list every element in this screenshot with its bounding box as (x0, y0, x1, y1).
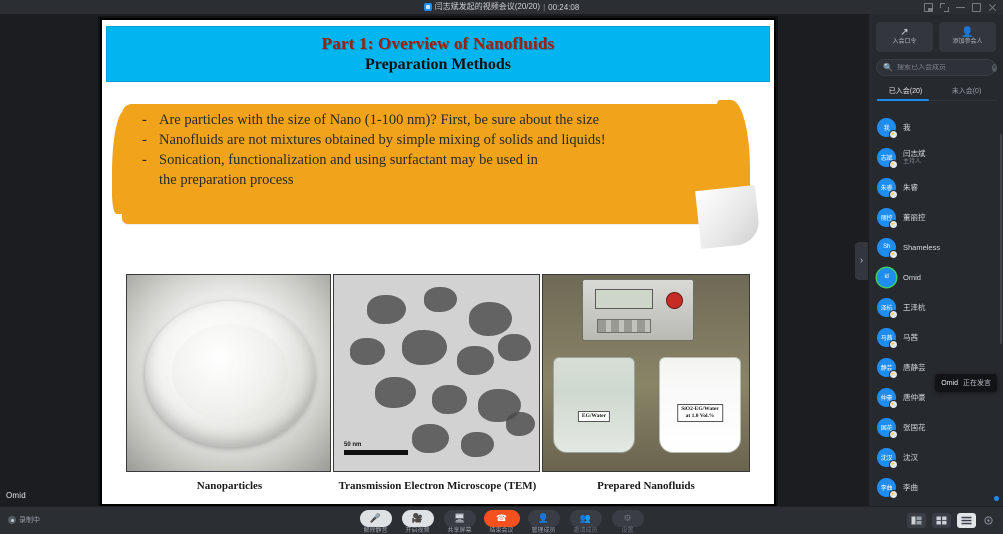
image-captions: Nanoparticles Transmission Electron Micr… (126, 476, 750, 496)
list-item[interactable]: 泽杭 ⛅ 王泽杭 (869, 292, 1003, 322)
microphone-muted-icon: ⛅ (889, 130, 898, 139)
participant-info: Omid (903, 273, 921, 282)
prepared-nanofluids-photo: EG/Water SiO2-EG/Water at 1.0 Vol.% (542, 274, 750, 472)
speaking-indicator-dot (994, 496, 999, 501)
search-icon: 🔍 (883, 63, 893, 72)
end-call-icon: ☎ (496, 514, 507, 523)
add-person-icon: 👤 (961, 28, 973, 38)
gear-icon[interactable] (982, 514, 995, 527)
search-container: 🔍 ✕ (869, 52, 1003, 76)
bullet-continuation: the preparation process (142, 170, 738, 190)
title-bar: 闫志斌发起的视频会议(20/20) | 00:24:08 (0, 0, 1003, 14)
participant-name: 我 (903, 123, 911, 132)
participant-info: 王泽杭 (903, 303, 926, 312)
close-icon[interactable] (988, 3, 997, 12)
bullet-text: Sonication, functionalization and using … (159, 150, 538, 170)
beaker-label-line1: SiO2-EG/Water (681, 406, 719, 412)
participant-info: 唐仲豪 (903, 393, 926, 402)
avatar: 泽杭 ⛅ (877, 298, 896, 317)
participant-info: 张国花 (903, 423, 926, 432)
panel-action-buttons: ↗ 入会口令 👤 添加参会人 (869, 14, 1003, 52)
bullet-dash: - (142, 130, 149, 150)
meeting-controls: 🎤 解除静音 🎥 开启视频 🖥 共享屏幕 ☎ 结束会议 (360, 510, 644, 534)
end-meeting-button[interactable]: ☎ 结束会议 (486, 510, 518, 534)
search-input[interactable] (897, 64, 988, 71)
mute-pill: 🎤 (360, 510, 392, 527)
add-participant-button[interactable]: 👤 添加参会人 (939, 22, 996, 52)
microphone-muted-icon: ⛅ (889, 430, 898, 439)
camera-muted-icon: 🎥 (412, 514, 423, 523)
title-content: 闫志斌发起的视频会议(20/20) | 00:24:08 (424, 2, 580, 12)
microphone-muted-icon: ⛅ (889, 490, 898, 499)
beaker-label: EG/Water (578, 411, 610, 422)
share-pill: 🖥 (444, 510, 476, 527)
settings-icon: ⚙ (623, 514, 631, 523)
window-controls (924, 0, 997, 14)
participants-list[interactable]: 我 ⛅ 我 志斌 ⛅ 闫志斌 主持人 朱睿 (869, 112, 1003, 506)
participant-role: 主持人 (903, 158, 926, 166)
participant-name: 唐仲豪 (903, 393, 926, 402)
list-item[interactable]: id Omid (869, 262, 1003, 292)
active-tab-underline (877, 99, 929, 101)
list-item[interactable]: 国花 ⛅ 张国花 (869, 412, 1003, 442)
participants-icon: 👤 (538, 514, 549, 523)
participants-pill: 👤 (528, 510, 560, 527)
tencent-meeting-logo-icon (424, 3, 432, 11)
microphone-muted-icon: ⛅ (889, 190, 898, 199)
presenter-name-label: Omid (6, 491, 26, 500)
chevron-right-icon: › (860, 256, 863, 266)
layout-view-controls (907, 513, 995, 528)
slide-title-line1: Part 1: Overview of Nanofluids (322, 34, 555, 54)
participant-name: 董丽控 (903, 213, 926, 222)
participant-info: 闫志斌 主持人 (903, 149, 926, 166)
bullet-item: - Are particles with the size of Nano (1… (142, 110, 738, 130)
settings-button[interactable]: ⚙ 设置 (612, 510, 644, 534)
minimize-icon[interactable] (956, 3, 965, 12)
microphone-muted-icon: ⛅ (889, 220, 898, 229)
bullet-item: - Sonication, functionalization and usin… (142, 150, 738, 170)
tem-micrograph: 50 nm (333, 274, 540, 472)
beaker-label-line1: EG/Water (582, 413, 606, 419)
invite-pill: 👥 (570, 510, 602, 527)
participant-info: 沈汉 (903, 453, 918, 462)
microphone-muted-icon: ⛅ (889, 310, 898, 319)
beaker-sio2-nanofluid: SiO2-EG/Water at 1.0 Vol.% (659, 357, 741, 453)
participant-info: 我 (903, 123, 911, 132)
microphone-muted-icon: ⛅ (889, 370, 898, 379)
fullscreen-icon[interactable] (940, 3, 949, 12)
participant-name: Omid (903, 273, 921, 282)
recording-indicator[interactable]: 录制中 (8, 515, 40, 525)
meeting-title: 闫志斌发起的视频会议(20/20) (435, 2, 540, 12)
mute-toggle-button[interactable]: 🎤 解除静音 (360, 510, 392, 534)
layout-grid-icon[interactable] (932, 513, 951, 528)
video-pill: 🎥 (402, 510, 434, 527)
manage-participants-button[interactable]: 👤 管理成员 (528, 510, 560, 534)
bullet-item: - Nanofluids are not mixtures obtained b… (142, 130, 738, 150)
video-toggle-button[interactable]: 🎥 开启视频 (402, 510, 434, 534)
avatar: 马茜 ⛅ (877, 328, 896, 347)
recording-label: 录制中 (19, 515, 40, 525)
share-screen-button[interactable]: 🖥 共享屏幕 (444, 510, 476, 534)
maximize-icon[interactable] (972, 3, 981, 12)
speaking-tooltip: Omid 正在发言 (935, 374, 997, 392)
participant-name: 马茜 (903, 333, 918, 342)
join-password-button[interactable]: ↗ 入会口令 (876, 22, 933, 52)
banner-page-fold (695, 185, 761, 249)
avatar: 丽控 ⛅ (877, 208, 896, 227)
bullet-text: Nanofluids are not mixtures obtained by … (159, 130, 606, 150)
beaker-eg-water: EG/Water (553, 357, 635, 453)
petri-dish-powder (145, 301, 315, 447)
tooltip-name: Omid (941, 380, 958, 387)
microphone-muted-icon: ⛅ (889, 460, 898, 469)
add-participant-label: 添加参会人 (952, 39, 982, 46)
tem-scale-bar (344, 450, 408, 455)
settings-label: 设置 (621, 528, 633, 534)
end-pill: ☎ (484, 510, 520, 527)
bullet-text: Are particles with the size of Nano (1-1… (159, 110, 599, 130)
beaker-label-line2: at 1.0 Vol.% (686, 413, 715, 419)
list-item[interactable]: 我 ⛅ 我 (869, 112, 1003, 142)
avatar: 国花 ⛅ (877, 418, 896, 437)
share-screen-icon: 🖥 (454, 514, 465, 523)
avatar: 李曲 ⛅ (877, 478, 896, 497)
list-item[interactable]: Sh ⛅ Shameless (869, 232, 1003, 262)
list-item[interactable]: 朱睿 ⛅ 朱睿 (869, 172, 1003, 202)
microphone-muted-icon: ⛅ (889, 160, 898, 169)
avatar: Sh ⛅ (877, 238, 896, 257)
slide-bullet-list: - Are particles with the size of Nano (1… (142, 110, 738, 190)
participants-panel: ↗ 入会口令 👤 添加参会人 🔍 ✕ 已入会(20) 未入会(0) (868, 14, 1003, 506)
title-separator: | (543, 3, 545, 12)
participant-name: 沈汉 (903, 453, 918, 462)
invite-icon: 👥 (580, 514, 591, 523)
participants-scrollbar[interactable] (1000, 134, 1002, 344)
list-item[interactable]: 李曲 ⛅ 李曲 (869, 472, 1003, 502)
layout-list-icon[interactable] (957, 513, 976, 528)
collapse-panel-handle[interactable]: › (855, 242, 868, 280)
mute-label: 解除静音 (363, 528, 387, 534)
join-password-label: 入会口令 (892, 39, 916, 46)
microphone-muted-icon: ⛅ (889, 340, 898, 349)
pip-icon[interactable] (924, 3, 933, 12)
avatar-initials: Sh (883, 244, 890, 250)
caption-tem: Transmission Electron Microscope (TEM) (333, 480, 542, 492)
record-icon (8, 516, 16, 524)
shared-screen-frame[interactable]: Part 1: Overview of Nanofluids Preparati… (98, 16, 778, 508)
meeting-elapsed-time: 00:24:08 (548, 3, 579, 12)
bullet-dash: - (142, 150, 149, 170)
bottom-toolbar: 录制中 🎤 解除静音 🎥 开启视频 🖥 共享屏幕 (0, 506, 1003, 534)
search-box[interactable]: 🔍 ✕ (876, 59, 996, 76)
participant-name: 闫志斌 (903, 149, 926, 158)
avatar: 志斌 ⛅ (877, 148, 896, 167)
avatar: id (877, 268, 896, 287)
avatar: 朱睿 ⛅ (877, 178, 896, 197)
settings-pill: ⚙ (612, 510, 644, 527)
microphone-muted-icon: 🎤 (370, 514, 381, 523)
presentation-slide: Part 1: Overview of Nanofluids Preparati… (102, 20, 774, 504)
participant-info: 唐静芸 (903, 363, 926, 372)
list-item[interactable]: 沈汉 ⛅ 沈汉 (869, 442, 1003, 472)
avatar: 我 ⛅ (877, 118, 896, 137)
participant-name: 王泽杭 (903, 303, 926, 312)
list-item[interactable]: 丽控 ⛅ 董丽控 (869, 202, 1003, 232)
share-label: 共享屏幕 (447, 528, 471, 534)
list-item[interactable]: 志斌 ⛅ 闫志斌 主持人 (869, 142, 1003, 172)
slide-header: Part 1: Overview of Nanofluids Preparati… (106, 26, 770, 82)
caption-prepared-nanofluids: Prepared Nanofluids (542, 480, 750, 492)
participant-info: 李曲 (903, 483, 918, 492)
clear-icon[interactable]: ✕ (992, 64, 997, 72)
participant-name: 朱睿 (903, 183, 918, 192)
participant-info: Shameless (903, 243, 940, 252)
slide-image-strip: 50 nm EG/Water (126, 274, 750, 496)
beaker-label: SiO2-EG/Water at 1.0 Vol.% (677, 404, 723, 422)
participant-name: 唐静芸 (903, 363, 926, 372)
list-item[interactable]: 马茜 ⛅ 马茜 (869, 322, 1003, 352)
avatar-initials: id (884, 274, 888, 280)
bullet-dash: - (142, 110, 149, 130)
device-display (595, 289, 653, 309)
nanoparticles-photo (126, 274, 331, 472)
participant-name: 李曲 (903, 483, 918, 492)
participants-label: 管理成员 (531, 528, 555, 534)
participant-info: 朱睿 (903, 183, 918, 192)
video-label: 开启视频 (405, 528, 429, 534)
avatar: 沈汉 ⛅ (877, 448, 896, 467)
tab-not-joined[interactable]: 未入会(0) (936, 83, 997, 101)
participant-name: 张国花 (903, 423, 926, 432)
slide-title-line2: Preparation Methods (365, 56, 511, 74)
meeting-window: 闫志斌发起的视频会议(20/20) | 00:24:08 Part 1: Ove… (0, 0, 1003, 534)
participant-info: 董丽控 (903, 213, 926, 222)
layout-sidebar-icon[interactable] (907, 513, 926, 528)
invite-label: 邀请成员 (573, 528, 597, 534)
caption-nanoparticles: Nanoparticles (126, 480, 333, 492)
microphone-muted-icon: ⛅ (889, 250, 898, 259)
tem-scale-label: 50 nm (344, 442, 361, 448)
share-link-icon: ↗ (900, 28, 908, 38)
tooltip-status: 正在发言 (963, 378, 991, 388)
participants-tabs: 已入会(20) 未入会(0) (869, 83, 1003, 101)
device-knob (666, 292, 683, 309)
participant-name: Shameless (903, 243, 940, 252)
avatar: 静芸 ⛅ (877, 358, 896, 377)
microphone-muted-icon: ⛅ (889, 400, 898, 409)
avatar: 仲豪 ⛅ (877, 388, 896, 407)
sonicator-device (582, 279, 694, 341)
end-label: 结束会议 (489, 528, 513, 534)
tem-image: 50 nm (334, 275, 539, 471)
avatar-initials: 我 (884, 123, 890, 132)
participant-info: 马茜 (903, 333, 918, 342)
invite-button[interactable]: 👥 邀请成员 (570, 510, 602, 534)
video-stage: Part 1: Overview of Nanofluids Preparati… (0, 14, 868, 506)
device-buttons (597, 319, 651, 333)
